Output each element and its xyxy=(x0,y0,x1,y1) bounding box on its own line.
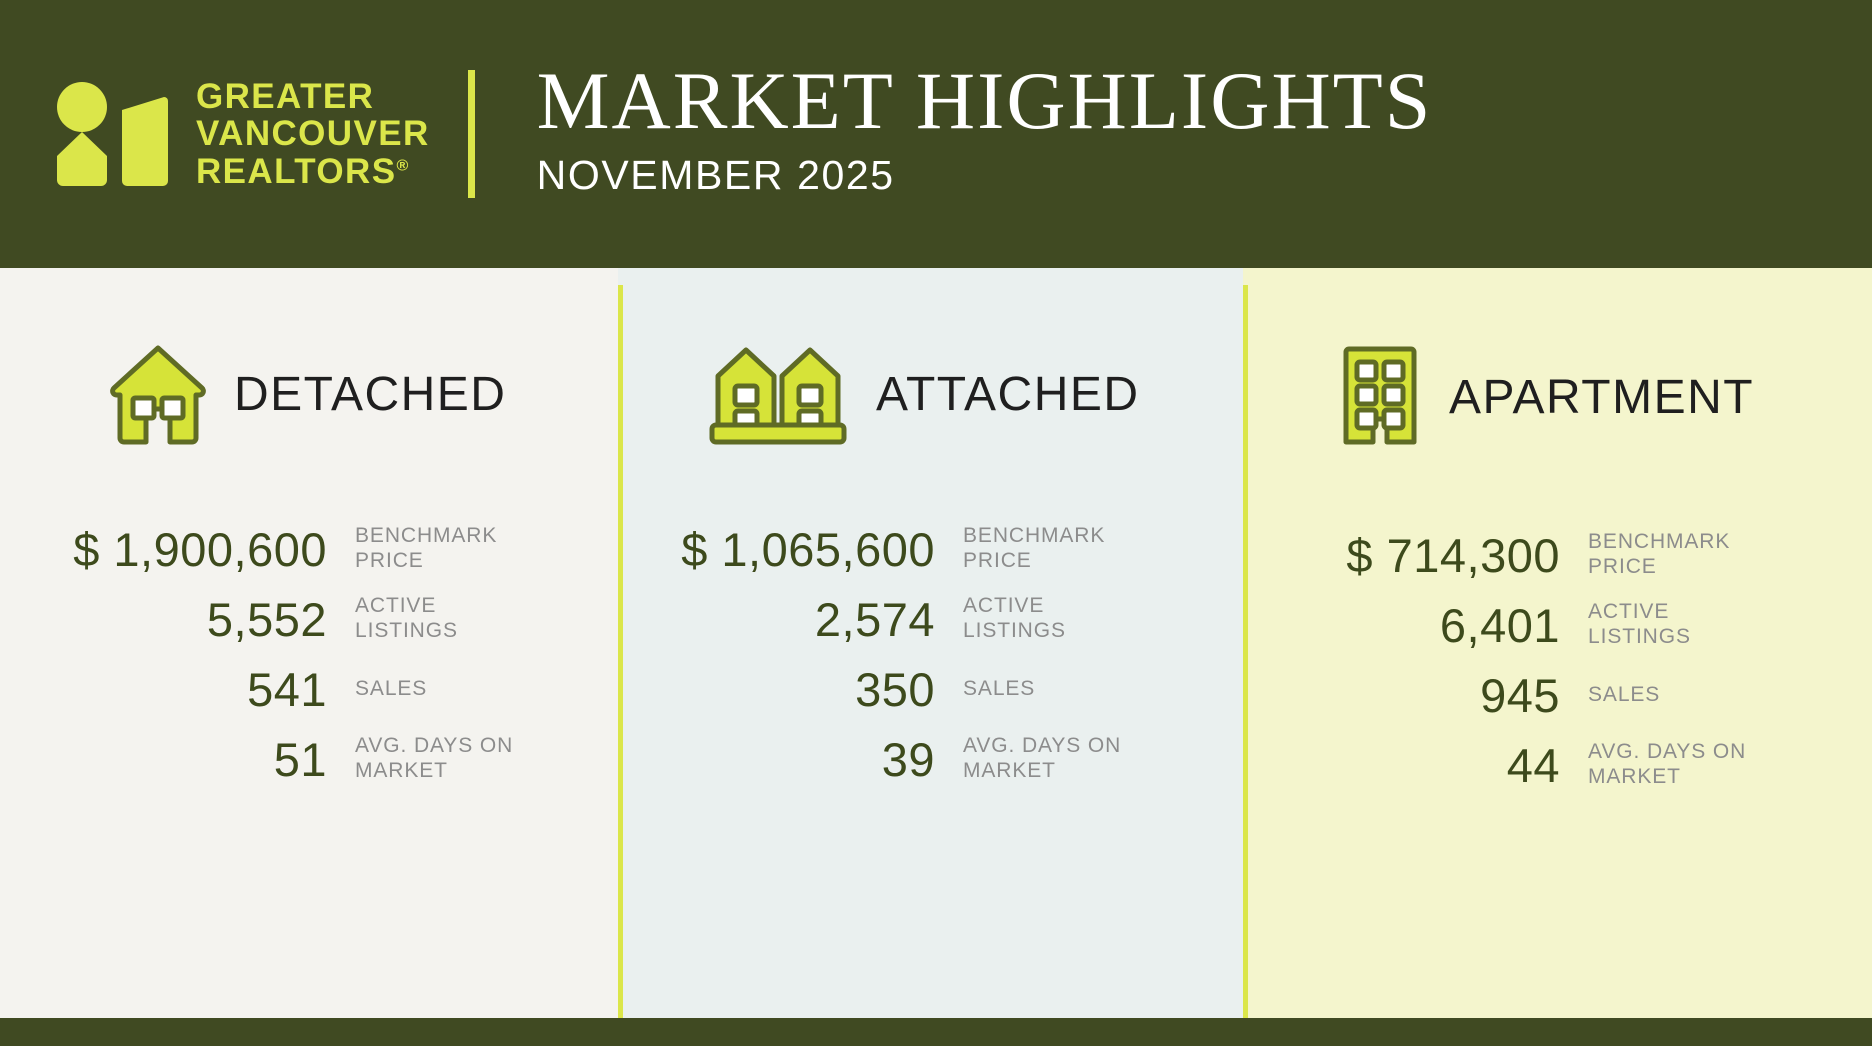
gvr-logo-icon xyxy=(52,80,170,188)
column-title-apartment: APARTMENT xyxy=(1449,370,1754,425)
townhouse-attached-icon xyxy=(708,342,848,446)
brand-line-3: REALTORS xyxy=(196,152,396,191)
column-header-detached: DETACHED xyxy=(110,342,618,446)
column-detached: DETACHED $ 1,900,600 BENCHMARK PRICE 5,5… xyxy=(0,268,618,1018)
stat-value: 6,401 xyxy=(1295,598,1560,653)
column-divider-left xyxy=(618,285,623,1019)
column-apartment: APARTMENT $ 714,300 BENCHMARK PRICE 6,40… xyxy=(1243,268,1872,1018)
stat-label: AVG. DAYS ON MARKET xyxy=(963,734,1121,783)
stats-list-attached: $ 1,065,600 BENCHMARK PRICE 2,574 ACTIVE… xyxy=(670,514,1180,794)
header-title-group: MARKET HIGHLIGHTS NOVEMBER 2025 xyxy=(537,61,1433,198)
stat-label: BENCHMARK PRICE xyxy=(963,524,1105,573)
stat-label: ACTIVE LISTINGS xyxy=(1588,600,1691,649)
stat-row: 945 SALES xyxy=(1295,660,1805,730)
stat-label: SALES xyxy=(355,677,427,702)
stat-value: 541 xyxy=(62,662,327,717)
stat-value: 2,574 xyxy=(670,592,935,647)
page-title: MARKET HIGHLIGHTS xyxy=(537,61,1433,141)
stat-value: $ 1,065,600 xyxy=(670,522,935,577)
stat-row: 51 AVG. DAYS ON MARKET xyxy=(62,724,572,794)
stat-row: $ 1,065,600 BENCHMARK PRICE xyxy=(670,514,1180,584)
stat-value: $ 1,900,600 xyxy=(62,522,327,577)
stats-list-detached: $ 1,900,600 BENCHMARK PRICE 5,552 ACTIVE… xyxy=(62,514,572,794)
footer-bar xyxy=(0,1018,1872,1046)
stat-value: 44 xyxy=(1295,738,1560,793)
stat-row: 350 SALES xyxy=(670,654,1180,724)
stat-row: 6,401 ACTIVE LISTINGS xyxy=(1295,590,1805,660)
stat-label: ACTIVE LISTINGS xyxy=(963,594,1066,643)
stat-row: 5,552 ACTIVE LISTINGS xyxy=(62,584,572,654)
stat-row: $ 714,300 BENCHMARK PRICE xyxy=(1295,520,1805,590)
property-type-columns: DETACHED $ 1,900,600 BENCHMARK PRICE 5,5… xyxy=(0,268,1872,1018)
house-detached-icon xyxy=(110,342,206,446)
column-header-attached: ATTACHED xyxy=(708,342,1243,446)
column-title-attached: ATTACHED xyxy=(876,367,1140,422)
stat-value: 39 xyxy=(670,732,935,787)
brand-line-1: GREATER xyxy=(196,77,374,116)
stat-row: $ 1,900,600 BENCHMARK PRICE xyxy=(62,514,572,584)
stat-value: 5,552 xyxy=(62,592,327,647)
brand-line-2: VANCOUVER xyxy=(196,114,430,153)
stat-label: SALES xyxy=(1588,683,1660,708)
brand-lockup: GREATER VANCOUVER REALTORS® xyxy=(52,78,430,189)
stat-label: AVG. DAYS ON MARKET xyxy=(1588,740,1746,789)
stat-label: BENCHMARK PRICE xyxy=(1588,530,1730,579)
page-subtitle: NOVEMBER 2025 xyxy=(537,152,1433,199)
column-divider-left xyxy=(1243,285,1248,1019)
stat-row: 2,574 ACTIVE LISTINGS xyxy=(670,584,1180,654)
brand-wordmark: GREATER VANCOUVER REALTORS® xyxy=(196,78,430,189)
stat-row: 541 SALES xyxy=(62,654,572,724)
stat-value: 350 xyxy=(670,662,935,717)
column-attached: ATTACHED $ 1,065,600 BENCHMARK PRICE 2,5… xyxy=(618,268,1243,1018)
stat-value: 51 xyxy=(62,732,327,787)
apartment-building-icon xyxy=(1339,342,1421,452)
stat-row: 39 AVG. DAYS ON MARKET xyxy=(670,724,1180,794)
stats-list-apartment: $ 714,300 BENCHMARK PRICE 6,401 ACTIVE L… xyxy=(1295,520,1805,800)
registered-trademark-icon: ® xyxy=(396,157,409,174)
header-vertical-divider xyxy=(468,70,475,198)
stat-label: BENCHMARK PRICE xyxy=(355,524,497,573)
stat-row: 44 AVG. DAYS ON MARKET xyxy=(1295,730,1805,800)
stat-label: AVG. DAYS ON MARKET xyxy=(355,734,513,783)
column-title-detached: DETACHED xyxy=(234,367,506,422)
stat-label: ACTIVE LISTINGS xyxy=(355,594,458,643)
column-header-apartment: APARTMENT xyxy=(1339,342,1872,452)
stat-value: $ 714,300 xyxy=(1295,528,1560,583)
market-highlights-infographic: GREATER VANCOUVER REALTORS® MARKET HIGHL… xyxy=(0,0,1872,1046)
stat-value: 945 xyxy=(1295,668,1560,723)
header-banner: GREATER VANCOUVER REALTORS® MARKET HIGHL… xyxy=(0,0,1872,268)
stat-label: SALES xyxy=(963,677,1035,702)
